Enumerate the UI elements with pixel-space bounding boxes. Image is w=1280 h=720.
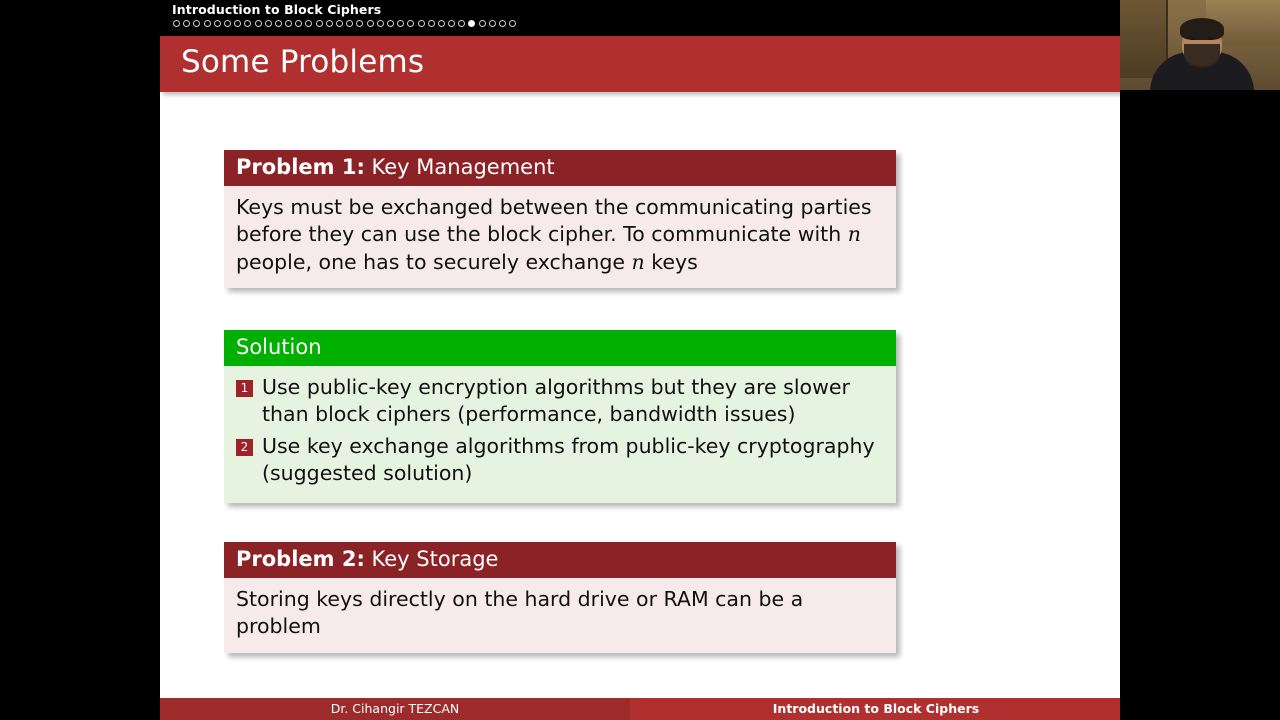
slide-progress-dots[interactable] [173, 20, 516, 27]
progress-dot[interactable] [367, 20, 374, 27]
list-item-number: 1 [236, 380, 253, 397]
list-item-number: 2 [236, 439, 253, 456]
progress-dot[interactable] [458, 20, 465, 27]
progress-dot[interactable] [265, 20, 272, 27]
progress-dot[interactable] [468, 20, 475, 27]
progress-dot[interactable] [407, 20, 414, 27]
progress-dot[interactable] [428, 20, 435, 27]
block-solution-label: Solution [236, 335, 322, 359]
slide-title-band: Some Problems [160, 36, 1120, 92]
block-solution-body: 1 Use public-key encryption algorithms b… [224, 366, 896, 503]
progress-dot[interactable] [285, 20, 292, 27]
progress-dot[interactable] [418, 20, 425, 27]
progress-dot[interactable] [295, 20, 302, 27]
progress-dot[interactable] [244, 20, 251, 27]
footer-course: Introduction to Block Ciphers [632, 698, 1120, 720]
progress-dot[interactable] [489, 20, 496, 27]
progress-dot[interactable] [448, 20, 455, 27]
problem-1-text-a: Keys must be exchanged between the commu… [236, 195, 872, 246]
progress-dot[interactable] [214, 20, 221, 27]
footer-author: Dr. Cihangir TEZCAN [160, 698, 630, 720]
list-item-text: Use key exchange algorithms from public-… [262, 433, 884, 488]
progress-dot[interactable] [173, 20, 180, 27]
progress-dot[interactable] [193, 20, 200, 27]
slide-content: Problem 1: Key Management Keys must be e… [160, 92, 1120, 692]
webcam-person-eye-right [1208, 37, 1213, 40]
progress-dot[interactable] [499, 20, 506, 27]
progress-dot[interactable] [509, 20, 516, 27]
block-problem-1: Problem 1: Key Management Keys must be e… [224, 150, 896, 288]
progress-dot[interactable] [183, 20, 190, 27]
page-title: Some Problems [181, 44, 424, 80]
block-problem-2-body: Storing keys directly on the hard drive … [224, 578, 896, 653]
list-item-text: Use public-key encryption algorithms but… [262, 374, 884, 429]
progress-dot[interactable] [255, 20, 262, 27]
solution-list: 1 Use public-key encryption algorithms b… [236, 374, 884, 487]
slide-footer: Dr. Cihangir TEZCAN Introduction to Bloc… [160, 698, 1120, 720]
slide-header-bar: Introduction to Block Ciphers [160, 0, 1120, 36]
block-problem-2-header: Problem 2: Key Storage [224, 542, 896, 578]
block-problem-1-header: Problem 1: Key Management [224, 150, 896, 186]
slide: Introduction to Block Ciphers Some Probl… [160, 0, 1120, 720]
progress-dot[interactable] [377, 20, 384, 27]
webcam-person-hair [1180, 18, 1224, 40]
list-item: 2 Use key exchange algorithms from publi… [236, 433, 884, 488]
progress-dot[interactable] [224, 20, 231, 27]
progress-dot[interactable] [275, 20, 282, 27]
progress-dot[interactable] [346, 20, 353, 27]
progress-dot[interactable] [204, 20, 211, 27]
problem-1-text-b: people, one has to securely exchange [236, 250, 632, 274]
block-solution: Solution 1 Use public-key encryption alg… [224, 330, 896, 503]
list-item: 1 Use public-key encryption algorithms b… [236, 374, 884, 429]
problem-1-var-n-1: n [848, 222, 861, 246]
breadcrumb: Introduction to Block Ciphers [172, 2, 381, 17]
progress-dot[interactable] [479, 20, 486, 27]
progress-dot[interactable] [387, 20, 394, 27]
problem-1-var-n-2: n [632, 250, 645, 274]
screen: Introduction to Block Ciphers Some Probl… [0, 0, 1280, 720]
progress-dot[interactable] [397, 20, 404, 27]
webcam-person-eye-left [1190, 37, 1195, 40]
problem-1-text-c: keys [645, 250, 698, 274]
webcam-overlay [1120, 0, 1280, 90]
block-problem-2: Problem 2: Key Storage Storing keys dire… [224, 542, 896, 653]
progress-dot[interactable] [305, 20, 312, 27]
webcam-person-beard [1184, 44, 1220, 68]
progress-dot[interactable] [234, 20, 241, 27]
progress-dot[interactable] [336, 20, 343, 27]
block-problem-2-title: Key Storage [365, 547, 499, 571]
progress-dot[interactable] [438, 20, 445, 27]
progress-dot[interactable] [316, 20, 323, 27]
block-problem-1-title: Key Management [365, 155, 555, 179]
block-problem-1-body: Keys must be exchanged between the commu… [224, 186, 896, 288]
progress-dot[interactable] [356, 20, 363, 27]
block-problem-1-label: Problem 1: [236, 155, 365, 179]
block-solution-header: Solution [224, 330, 896, 366]
progress-dot[interactable] [326, 20, 333, 27]
block-problem-2-label: Problem 2: [236, 547, 365, 571]
